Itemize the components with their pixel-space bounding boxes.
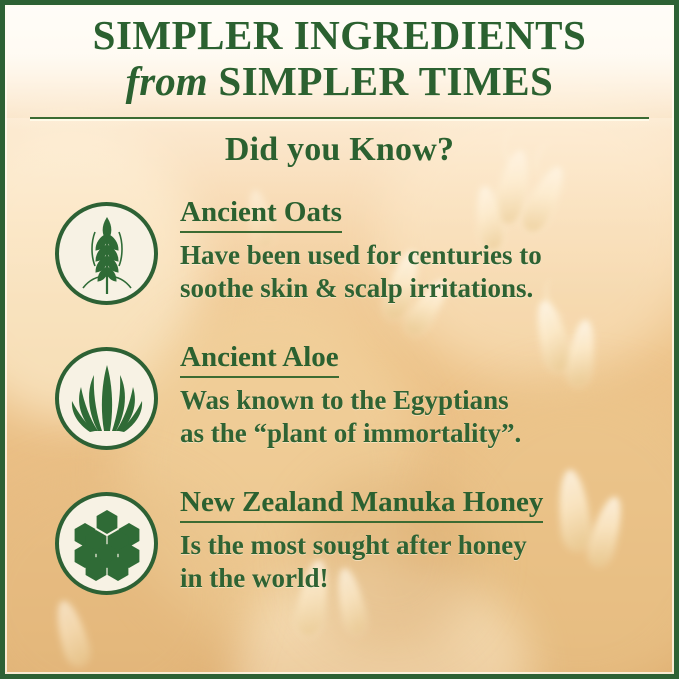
fact-text-aloe: Ancient Aloe Was known to the Egyptians … bbox=[180, 341, 665, 449]
honeycomb-icon bbox=[55, 492, 158, 595]
header-divider bbox=[30, 117, 649, 119]
promo-infographic-card: SIMPLER INGREDIENTS from SIMPLER TIMES D… bbox=[0, 0, 679, 679]
fact-body-line: Have been used for centuries to bbox=[180, 239, 665, 271]
fact-list: Ancient Oats Have been used for centurie… bbox=[0, 196, 679, 631]
page-subtitle: Did you Know? bbox=[0, 131, 679, 169]
header-title-line1: SIMPLER INGREDIENTS bbox=[0, 14, 679, 57]
fact-heading-aloe: Ancient Aloe bbox=[180, 341, 339, 378]
fact-body-aloe: Was known to the Egyptians as the “plant… bbox=[180, 384, 665, 449]
fact-body-line: as the “plant of immortality”. bbox=[180, 417, 665, 449]
header-title-from: from bbox=[126, 58, 208, 104]
fact-item-aloe: Ancient Aloe Was known to the Egyptians … bbox=[0, 341, 679, 486]
fact-heading-oats: Ancient Oats bbox=[180, 196, 342, 233]
fact-body-honey: Is the most sought after honey in the wo… bbox=[180, 529, 665, 594]
fact-body-line: Was known to the Egyptians bbox=[180, 384, 665, 416]
fact-text-oats: Ancient Oats Have been used for centurie… bbox=[180, 196, 665, 304]
fact-body-line: Is the most sought after honey bbox=[180, 529, 665, 561]
fact-item-oats: Ancient Oats Have been used for centurie… bbox=[0, 196, 679, 341]
fact-body-line: in the world! bbox=[180, 562, 665, 594]
fact-item-honey: New Zealand Manuka Honey Is the most sou… bbox=[0, 486, 679, 631]
fact-body-oats: Have been used for centuries to soothe s… bbox=[180, 239, 665, 304]
aloe-icon bbox=[55, 347, 158, 450]
fact-body-line: soothe skin & scalp irritations. bbox=[180, 272, 665, 304]
wheat-icon bbox=[55, 202, 158, 305]
fact-heading-honey: New Zealand Manuka Honey bbox=[180, 486, 543, 523]
header-title-line2: from SIMPLER TIMES bbox=[0, 59, 679, 105]
fact-text-honey: New Zealand Manuka Honey Is the most sou… bbox=[180, 486, 665, 594]
header-title: SIMPLER INGREDIENTS from SIMPLER TIMES bbox=[0, 14, 679, 105]
header-title-rest: SIMPLER TIMES bbox=[218, 58, 553, 104]
